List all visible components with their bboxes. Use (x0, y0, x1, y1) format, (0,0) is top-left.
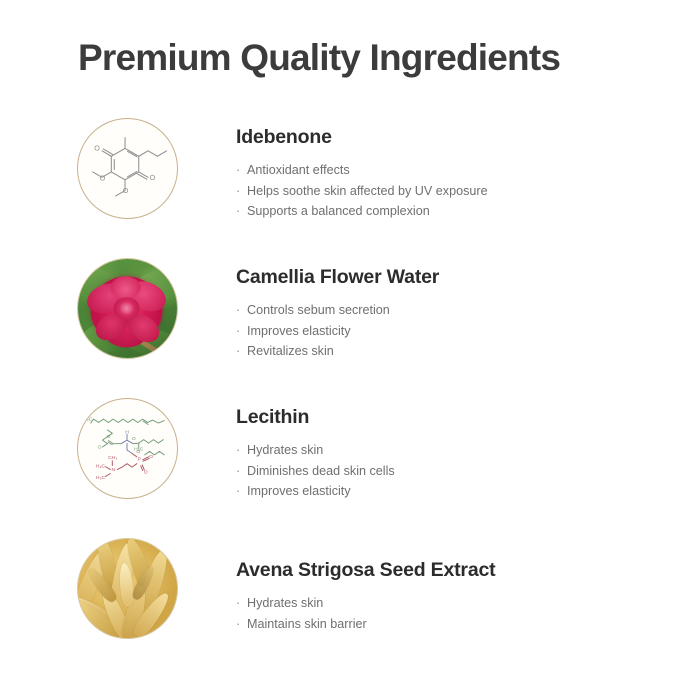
atom-label-o: O (150, 173, 156, 182)
atom-label-o: O (94, 143, 100, 152)
bullet-icon: · (236, 181, 240, 201)
atom-label-o: O (98, 445, 102, 451)
bullet-icon: · (236, 461, 240, 481)
bullet-icon: · (236, 614, 240, 634)
benefit-item: · Controls sebum secretion (236, 300, 656, 320)
benefit-text: Maintains skin barrier (247, 617, 367, 631)
ingredient-row-lecithin: P O O O N CH₃ H₃C H₃C H₃C H₃C O O (0, 398, 679, 538)
benefit-item: · Revitalizes skin (236, 341, 656, 361)
benefit-text: Antioxidant effects (247, 163, 350, 177)
benefit-text: Improves elasticity (247, 484, 351, 498)
lecithin-structure-image: P O O O N CH₃ H₃C H₃C H₃C H₃C O O (77, 398, 178, 499)
benefit-item: · Antioxidant effects (236, 160, 656, 180)
bullet-icon: · (236, 201, 240, 221)
benefit-text: Supports a balanced complexion (247, 204, 430, 218)
benefit-item: · Diminishes dead skin cells (236, 461, 656, 481)
ingredient-row-idebenone: O O O O Idebenone · Antioxidant effects … (0, 118, 679, 258)
atom-label-h3c: H₃C (96, 475, 106, 481)
camellia-bloom (90, 276, 162, 344)
lecithin-text-block: Lecithin · Hydrates skin · Diminishes de… (236, 406, 656, 502)
bullet-icon: · (236, 440, 240, 460)
benefit-list: · Hydrates skin · Maintains skin barrier (236, 593, 656, 634)
benefit-list: · Controls sebum secretion · Improves el… (236, 300, 656, 361)
flower-center-inner (120, 303, 133, 314)
benefit-item: · Hydrates skin (236, 593, 656, 613)
ingredient-row-camellia-flower-water: Camellia Flower Water · Controls sebum s… (0, 258, 679, 398)
ingredient-name: Camellia Flower Water (236, 266, 656, 289)
camellia-text-block: Camellia Flower Water · Controls sebum s… (236, 266, 656, 362)
atom-label-o: O (144, 469, 148, 475)
benefit-text: Controls sebum secretion (247, 303, 390, 317)
benefit-text: Revitalizes skin (247, 344, 334, 358)
camellia-photo-canvas (78, 259, 177, 358)
benefit-item: · Improves elasticity (236, 321, 656, 341)
atom-label-h3c: H₃C (96, 464, 106, 470)
ingredient-row-avena-strigosa-seed-extract: Avena Strigosa Seed Extract · Hydrates s… (0, 538, 679, 678)
idebenone-molecule-diagram: O O O O (78, 119, 177, 218)
benefit-text: Diminishes dead skin cells (247, 464, 395, 478)
atom-label-h3c: H₃C (83, 417, 93, 423)
bullet-icon: · (236, 481, 240, 501)
benefit-item: · Helps soothe skin affected by UV expos… (236, 181, 656, 201)
benefit-text: Helps soothe skin affected by UV exposur… (247, 184, 488, 198)
bullet-icon: · (236, 300, 240, 320)
idebenone-text-block: Idebenone · Antioxidant effects · Helps … (236, 126, 656, 222)
benefit-text: Improves elasticity (247, 324, 351, 338)
ingredient-name: Lecithin (236, 406, 656, 429)
atom-label-o: O (100, 173, 106, 182)
atom-label-o: O (123, 186, 129, 195)
bullet-icon: · (236, 341, 240, 361)
atom-label-o: O (132, 436, 136, 442)
benefit-item: · Maintains skin barrier (236, 614, 656, 634)
atom-label-o: O (106, 434, 110, 440)
benefit-item: · Improves elasticity (236, 481, 656, 501)
atom-label-o: O (149, 454, 153, 460)
oat-photo-canvas (78, 539, 177, 638)
benefit-item: · Hydrates skin (236, 440, 656, 460)
atom-label-h3c: H₃C (134, 446, 144, 452)
bullet-icon: · (236, 321, 240, 341)
benefit-list: · Antioxidant effects · Helps soothe ski… (236, 160, 656, 221)
camellia-flower-photo (77, 258, 178, 359)
ingredient-name: Avena Strigosa Seed Extract (236, 559, 656, 582)
page-title: Premium Quality Ingredients (78, 38, 560, 79)
ingredients-infographic: Premium Quality Ingredients (0, 0, 679, 679)
benefit-text: Hydrates skin (247, 596, 323, 610)
avena-text-block: Avena Strigosa Seed Extract · Hydrates s… (236, 559, 656, 634)
benefit-list: · Hydrates skin · Diminishes dead skin c… (236, 440, 656, 501)
ingredient-name: Idebenone (236, 126, 656, 149)
lecithin-molecule-diagram: P O O O N CH₃ H₃C H₃C H₃C H₃C O O (78, 399, 177, 498)
atom-label-n: N (111, 467, 115, 473)
benefit-text: Hydrates skin (247, 443, 323, 457)
petal-shape (110, 276, 140, 298)
benefit-item: · Supports a balanced complexion (236, 201, 656, 221)
atom-label-h: H (125, 429, 129, 435)
bullet-icon: · (236, 593, 240, 613)
oat-seeds-photo (77, 538, 178, 639)
atom-label-ch3: CH₃ (108, 455, 117, 461)
bullet-icon: · (236, 160, 240, 180)
idebenone-structure-image: O O O O (77, 118, 178, 219)
atom-label-p: P (138, 456, 142, 462)
ingredient-list: O O O O Idebenone · Antioxidant effects … (0, 118, 679, 678)
